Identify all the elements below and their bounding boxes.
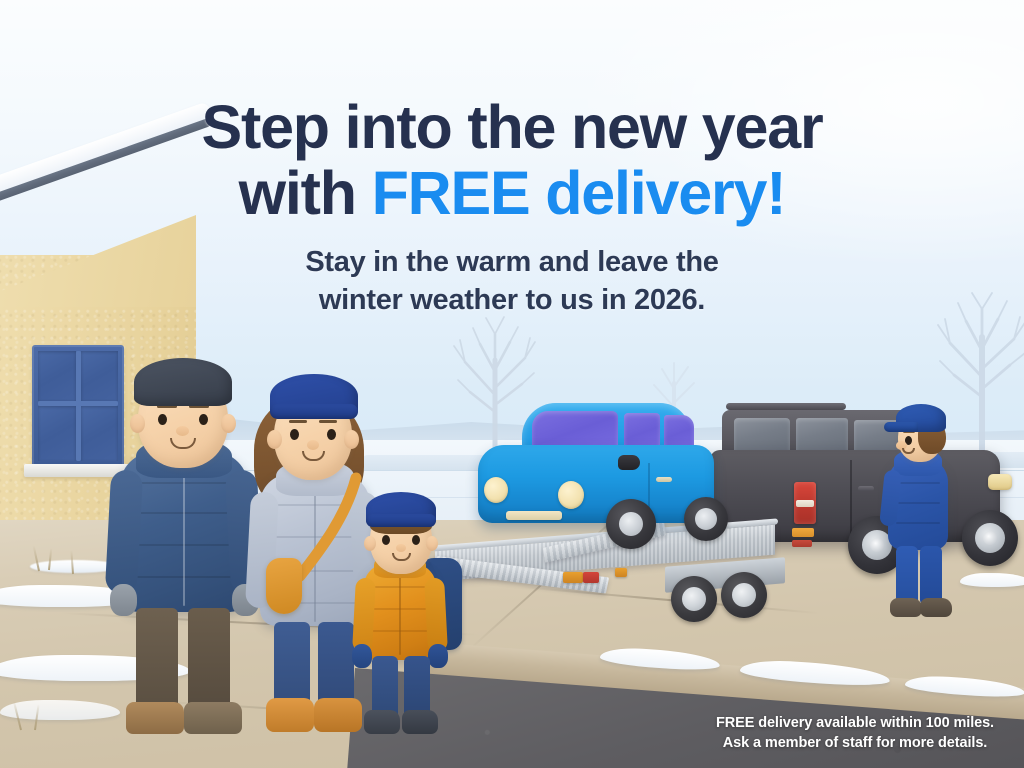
- suv-roof-rail: [726, 403, 846, 410]
- suv-rear-window: [734, 418, 790, 454]
- car-rear-wheel: [684, 497, 728, 541]
- trailer-wheel: [721, 572, 767, 618]
- mother-beanie-brim: [270, 404, 358, 419]
- disclaimer-line-1: FREE delivery available within 100 miles…: [716, 713, 994, 734]
- child-arm: [352, 578, 376, 653]
- father-leg: [188, 608, 230, 712]
- staff-boot: [890, 598, 922, 617]
- suv-side-window: [796, 418, 848, 454]
- window-mullion: [38, 401, 118, 406]
- subheading-line-1: Stay in the warm and leave the: [0, 243, 1024, 281]
- father-figure: [110, 352, 270, 742]
- child-beanie-brim: [366, 514, 436, 527]
- staff-leg: [896, 546, 918, 604]
- child-arm: [424, 578, 448, 653]
- child-boot: [364, 710, 400, 734]
- headline: Step into the new year with FREE deliver…: [0, 96, 1024, 224]
- window-mullion: [76, 351, 81, 461]
- father-leg: [136, 608, 178, 712]
- child-leg: [404, 656, 430, 718]
- car-headlight-right: [558, 481, 584, 509]
- child-glove: [428, 644, 448, 668]
- headline-line-2: with FREE delivery!: [0, 162, 1024, 224]
- subheading: Stay in the warm and leave the winter we…: [0, 243, 1024, 320]
- mother-boot: [266, 698, 314, 732]
- headline-line-2-prefix: with: [239, 159, 372, 227]
- suv-door-handle: [858, 486, 874, 491]
- staff-boot: [920, 598, 952, 617]
- headline-highlight: FREE delivery!: [372, 159, 786, 227]
- staff-cap-brim: [884, 422, 918, 432]
- promotional-banner: Step into the new year with FREE deliver…: [0, 0, 1024, 768]
- mother-leg: [318, 622, 354, 708]
- child-figure: [352, 492, 468, 742]
- disclaimer: FREE delivery available within 100 miles…: [716, 713, 994, 754]
- car-headlight-left: [484, 477, 508, 503]
- father-glove: [110, 584, 137, 616]
- trailer-wheel: [671, 576, 717, 622]
- child-leg: [372, 656, 398, 718]
- trailer-reflector-red: [583, 572, 599, 583]
- father-hat: [134, 358, 232, 406]
- car-front-wheel: [606, 499, 656, 549]
- blue-car: [470, 393, 730, 558]
- trailer-reflector-amber: [615, 568, 627, 577]
- disclaimer-line-2: Ask a member of staff for more details.: [716, 733, 994, 754]
- child-boot: [402, 710, 438, 734]
- staff-member: [880, 400, 970, 630]
- mother-satchel-bag: [266, 558, 302, 614]
- child-glove: [352, 644, 372, 668]
- father-arm: [105, 469, 143, 595]
- car-bumper-strip: [506, 511, 562, 520]
- headline-line-1: Step into the new year: [201, 93, 822, 161]
- suv-door-line: [850, 460, 852, 536]
- father-boot: [126, 702, 184, 734]
- subheading-line-2: winter weather to us in 2026.: [0, 281, 1024, 319]
- car-mirror: [618, 455, 640, 470]
- trailer-reflector-amber: [563, 572, 583, 583]
- staff-leg: [920, 546, 942, 604]
- mother-leg: [274, 622, 310, 708]
- car-door-handle: [656, 477, 672, 482]
- suv-front-wheel: [962, 510, 1018, 566]
- father-boot: [184, 702, 242, 734]
- suv-headlight: [988, 474, 1012, 490]
